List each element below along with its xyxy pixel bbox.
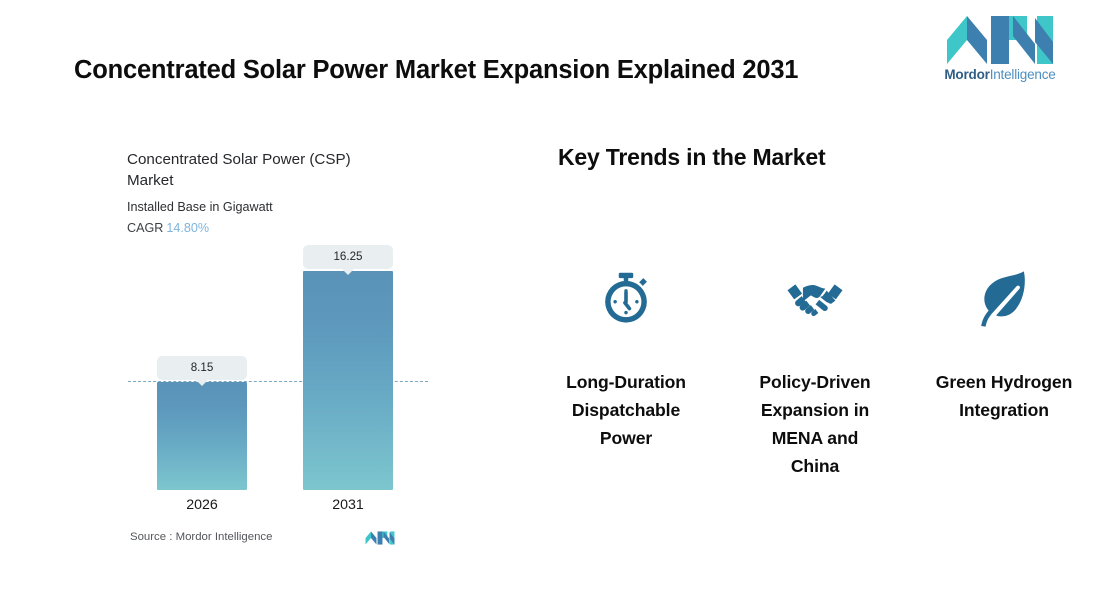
bar-2031[interactable] [303, 271, 393, 490]
trend-card-policy-driven[interactable]: Policy-Driven Expansion in MENA and Chin… [734, 268, 896, 480]
x-axis-label-2026: 2026 [157, 498, 247, 512]
trend-label-long-duration: Long-Duration Dispatchable Power [557, 368, 695, 452]
bar-2026[interactable] [157, 382, 247, 490]
key-trends-heading: Key Trends in the Market [558, 146, 825, 169]
x-axis-label-2031: 2031 [303, 498, 393, 512]
chart-panel: Concentrated Solar Power (CSP) Market In… [0, 118, 500, 610]
mordor-intelligence-logo-mark [945, 16, 1055, 64]
key-trends-panel: Key Trends in the Market Long-Duration D… [500, 118, 1101, 610]
brand-wordmark: MordorIntelligence [940, 68, 1060, 82]
trend-label-green-hydrogen: Green Hydrogen Integration [935, 368, 1073, 424]
trend-card-list: Long-Duration Dispatchable Power Policy-… [545, 268, 1085, 480]
handshake-icon [784, 268, 846, 330]
bar-value-label-2031: 16.25 [303, 245, 393, 269]
trend-card-green-hydrogen[interactable]: Green Hydrogen Integration [923, 268, 1085, 424]
stopwatch-icon [595, 268, 657, 330]
trend-label-policy-driven: Policy-Driven Expansion in MENA and Chin… [746, 368, 884, 480]
page-header: Concentrated Solar Power Market Expansio… [0, 0, 1101, 118]
trend-card-long-duration[interactable]: Long-Duration Dispatchable Power [545, 268, 707, 452]
brand-word-mordor: Mordor [944, 67, 989, 82]
leaf-icon [973, 268, 1035, 330]
bar-value-label-2026: 8.15 [157, 356, 247, 380]
mordor-intelligence-small-mark [365, 529, 395, 547]
page-title: Concentrated Solar Power Market Expansio… [74, 58, 798, 84]
brand-word-intelligence: Intelligence [990, 67, 1056, 82]
source-label: Source : Mordor Intelligence [130, 532, 272, 543]
chart-source-row: Source : Mordor Intelligence [130, 529, 430, 551]
brand-logo: MordorIntelligence [940, 16, 1060, 88]
